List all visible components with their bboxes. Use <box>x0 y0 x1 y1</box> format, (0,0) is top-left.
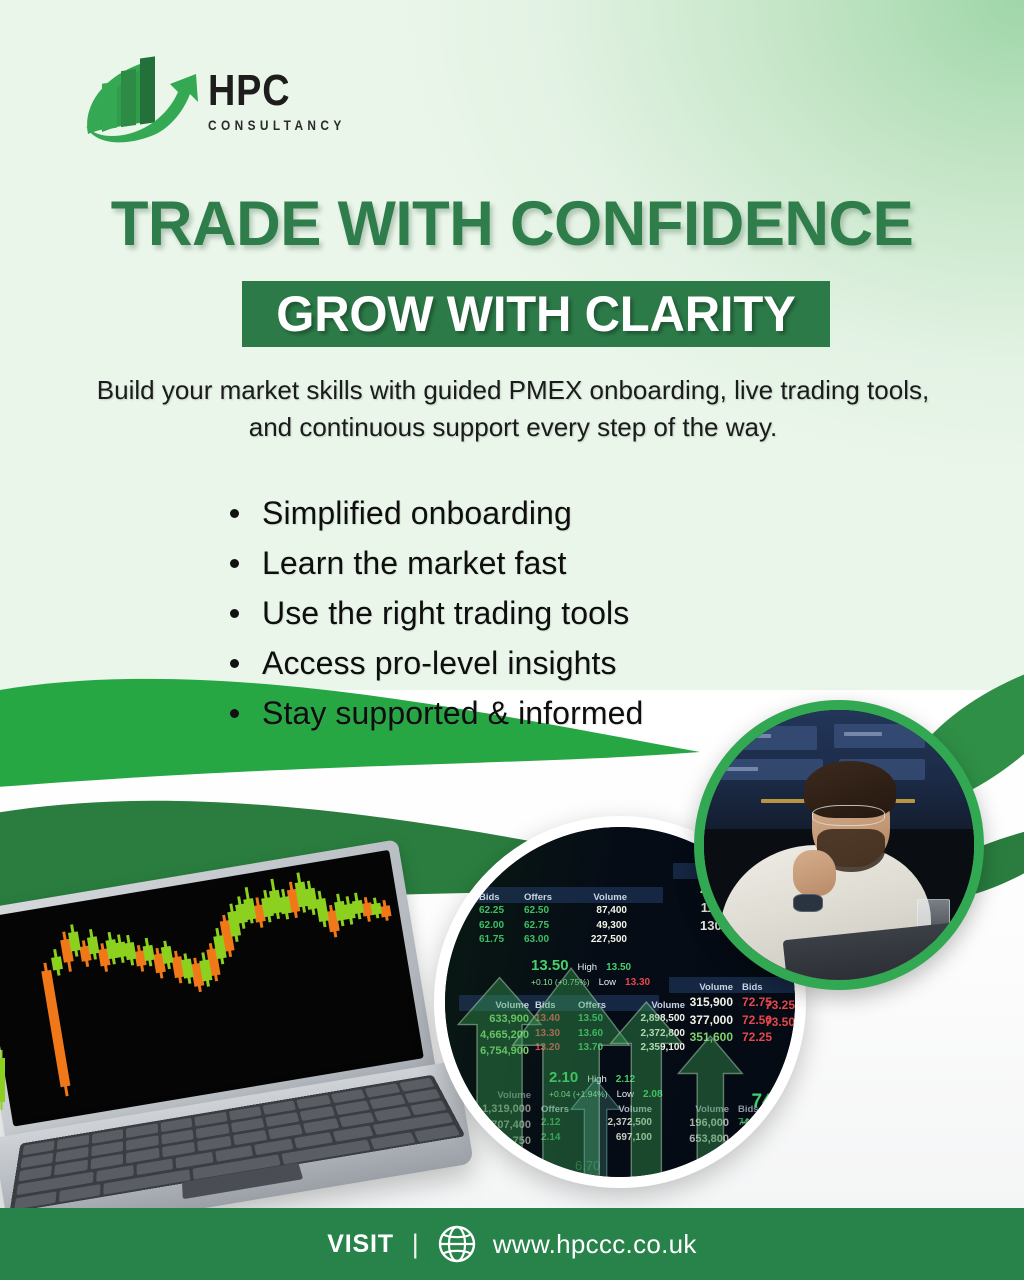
poster-canvas: HPC CONSULTANCY TRADE WITH CONFIDENCE GR… <box>0 0 1024 1280</box>
list-item: Access pro-level insights <box>226 638 986 688</box>
footer-bar: VISIT | www.hpccc.co.uk <box>0 1208 1024 1280</box>
logo-tagline: CONSULTANCY <box>208 118 346 133</box>
brand-logo[interactable]: HPC CONSULTANCY <box>72 52 372 158</box>
logo-wordmark: HPC CONSULTANCY <box>208 70 365 133</box>
logo-name: HPC <box>208 70 343 112</box>
hero-subheadline: GROW WITH CLARITY <box>276 285 795 343</box>
visit-label: VISIT <box>327 1230 394 1259</box>
list-item: Simplified onboarding <box>226 488 986 538</box>
footer-divider: | <box>412 1229 419 1260</box>
website-url[interactable]: www.hpccc.co.uk <box>493 1229 697 1260</box>
globe-icon <box>437 1224 477 1264</box>
stray-candlesticks <box>0 1028 56 1178</box>
hero-subheadline-band: GROW WITH CLARITY <box>242 281 830 347</box>
bar-chart-growth-arrow-icon <box>72 52 202 158</box>
hero-description: Build your market skills with guided PME… <box>82 372 944 446</box>
trader-photo-circle <box>694 700 984 990</box>
hero-headline: TRADE WITH CONFIDENCE <box>10 188 1014 260</box>
list-item: Use the right trading tools <box>226 588 986 638</box>
list-item: Learn the market fast <box>226 538 986 588</box>
benefits-list: Simplified onboarding Learn the market f… <box>226 488 986 738</box>
